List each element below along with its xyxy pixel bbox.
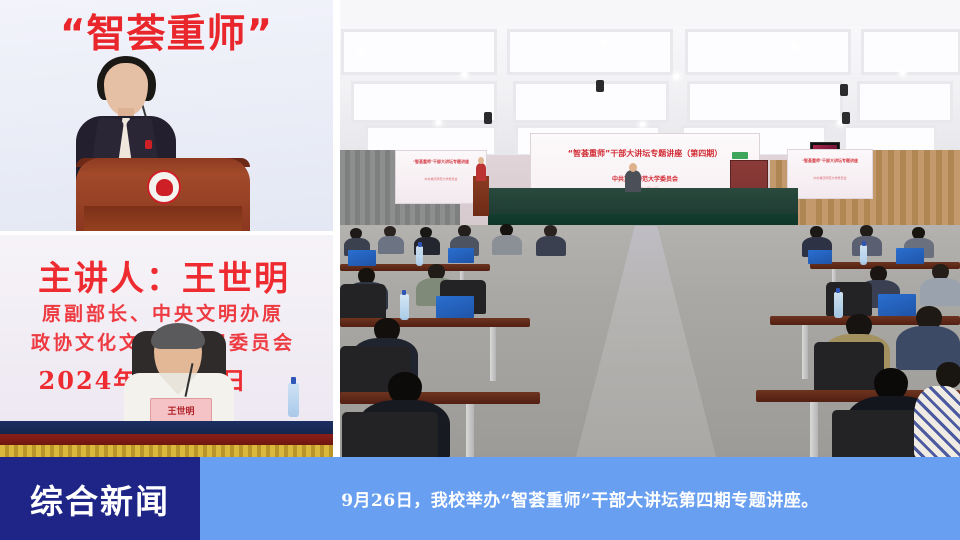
lapel-pin-icon [145,140,152,149]
caption-text: 9月26日，我校举办“智荟重师”干部大讲坛第四期专题讲座。 [341,486,819,511]
ceiling-projector-icon [840,84,848,96]
backdrop-title-text: “智荟重师” [0,3,333,59]
backdrop-line-1: 主讲人：王世明 [0,251,333,300]
photo-conference-hall: “智荟重师”干部大讲坛专题讲座 中共重庆师范大学委员会 “智荟重师”干部大讲坛专… [340,0,960,457]
photo-podium-speaker: “智荟重师” [0,0,333,231]
head-table [0,421,333,435]
side-screen-left-title: “智荟重师”干部大讲坛专题讲座 [396,159,486,165]
category-badge[interactable]: 综合新闻 [0,457,200,540]
audience-area [340,222,960,457]
university-emblem-icon [147,170,181,204]
name-plate: 王世明 [150,398,212,422]
category-label: 综合新闻 [30,475,170,523]
backdrop-line-2: 原副部长、中央文明办原 [0,299,333,326]
stage-speaker-figure [476,163,486,181]
exit-sign-icon [732,152,748,159]
ceiling-projector-icon [484,112,492,124]
podium-base [84,206,242,231]
side-screen-right: “智荟重师”干部大讲坛专题讲座 中共重庆师范大学委员会 [787,149,873,199]
ceiling-projector-icon [596,80,604,92]
left-photo-column: “智荟重师” 主讲人：王世明 原副部长、中央文明办原 政协文化文史和学习委员会 … [0,0,333,457]
ceiling-projector-icon [842,112,850,124]
main-screen-title: “智荟重师”干部大讲坛专题讲座（第四期） [531,148,759,159]
side-screen-right-subtitle: 中共重庆师范大学委员会 [788,176,872,180]
water-bottle-icon [288,383,299,417]
stage-podium [473,176,489,216]
side-screen-right-title: “智荟重师”干部大讲坛专题讲座 [788,158,872,164]
news-photo-card: “智荟重师” 主讲人：王世明 原副部长、中央文明办原 政协文化文史和学习委员会 … [0,0,960,540]
caption-bar: 综合新闻 9月26日，我校举办“智荟重师”干部大讲坛第四期专题讲座。 [0,457,960,540]
table-skirt [0,445,333,457]
caption-container: 9月26日，我校举办“智荟重师”干部大讲坛第四期专题讲座。 [200,457,960,540]
photo-seated-lecturer: 主讲人：王世明 原副部长、中央文明办原 政协文化文史和学习委员会 2024年9月… [0,235,333,457]
stage-seated-figure [625,170,641,192]
main-screen-org: 中共重庆师范大学委员会 [531,174,759,183]
